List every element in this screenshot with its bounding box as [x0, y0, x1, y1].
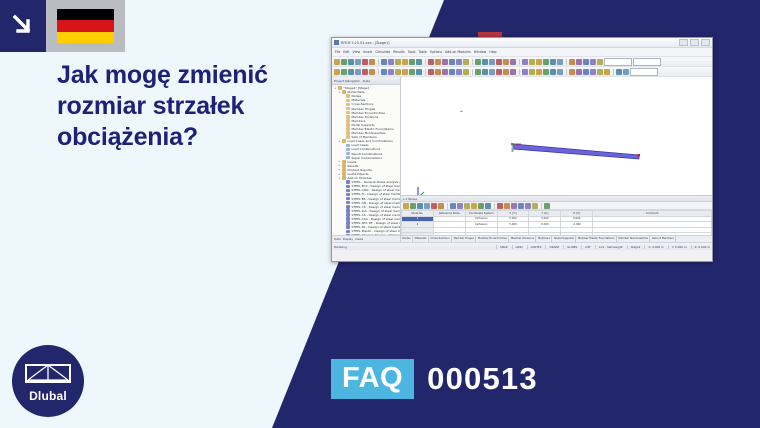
toolbar-icon-38[interactable] — [583, 69, 589, 75]
toolbar-icon-32[interactable] — [543, 59, 549, 65]
toolbar-icon-18[interactable] — [449, 69, 455, 75]
window-titlebar: RFEM 5.25.01.xxx - [Stage1] — [332, 38, 712, 48]
navigator-tab-views[interactable]: Views — [355, 237, 363, 241]
toolbar-icon-16[interactable] — [504, 203, 510, 209]
toolbar-icon-15[interactable] — [497, 203, 503, 209]
toolbar-icon-5[interactable] — [362, 59, 368, 65]
tree-node-icon — [346, 189, 350, 193]
tree-node-icon — [346, 180, 350, 184]
dlubal-wordmark: Dlubal — [12, 389, 84, 403]
toolbar-icon-30[interactable] — [529, 59, 535, 65]
toolbar-icon-18[interactable] — [449, 59, 455, 65]
toolbar-icon-26[interactable] — [503, 69, 509, 75]
toolbar-icon-31[interactable] — [536, 59, 542, 65]
status-segment: Z: 0.000 m — [691, 245, 710, 249]
toolbar-icon-20[interactable] — [463, 69, 469, 75]
toolbar-icon-4[interactable] — [355, 59, 361, 65]
toolbar-icon-43[interactable] — [616, 69, 622, 75]
toolbar-icon-10[interactable] — [464, 203, 470, 209]
toolbar-icon-13[interactable] — [416, 59, 422, 65]
status-segment: X: 0.000 m — [644, 245, 663, 249]
tree-expander-icon[interactable] — [342, 148, 345, 151]
navigator-tree[interactable]: +"Stage1" [Stage]+Model DataNodesMateria… — [332, 85, 400, 235]
toolbar-icon-19[interactable] — [456, 69, 462, 75]
toolbar-icon-34[interactable] — [557, 69, 563, 75]
tree-node-icon — [346, 99, 350, 103]
toolbar-icon-22[interactable] — [475, 69, 481, 75]
menu-item-add-on-modules[interactable]: Add-on Modules — [445, 50, 471, 54]
table-panel[interactable]: 1.1 Nodes Node No.Reference NodeCoordina… — [401, 196, 712, 242]
toolbar-separator — [566, 69, 567, 75]
tree-expander-icon[interactable] — [342, 119, 345, 122]
toolbar-icon-11[interactable] — [402, 69, 408, 75]
tree-node-icon — [346, 119, 350, 123]
maximize-button[interactable] — [690, 39, 699, 46]
sheet-tab-member-nonlinearities[interactable]: Member Nonlinearities — [617, 236, 650, 242]
tree-expander-icon[interactable]: + — [338, 140, 341, 143]
menu-item-insert[interactable]: Insert — [363, 50, 372, 54]
status-segment: DXF — [581, 245, 591, 249]
navigator-tab-display[interactable]: Display — [343, 237, 353, 241]
tree-expander-icon[interactable] — [342, 95, 345, 98]
menu-item-window[interactable]: Window — [474, 50, 487, 54]
toolbar-icon-11[interactable] — [402, 59, 408, 65]
coordinate-axes-icon — [415, 185, 431, 196]
toolbar-icon-31[interactable] — [536, 69, 542, 75]
toolbar-icon-40[interactable] — [597, 69, 603, 75]
tree-node-icon — [342, 160, 346, 164]
toolbar-separator — [378, 69, 379, 75]
sheet-tab-member-hinges[interactable]: Member Hinges — [452, 236, 476, 242]
tree-node-icon — [346, 197, 350, 201]
toolbar-icon-8[interactable] — [381, 69, 387, 75]
tree-node-icon — [346, 94, 350, 98]
toolbar-icon-30[interactable] — [529, 69, 535, 75]
sheet-tab-member-divisions[interactable]: Member Divisions — [509, 236, 536, 242]
tree-node-icon — [346, 111, 350, 115]
toolbar-row-2[interactable] — [332, 67, 712, 77]
tree-node-icon — [346, 185, 350, 189]
tree-expander-icon[interactable] — [342, 103, 345, 106]
toolbar-icon-17[interactable] — [442, 69, 448, 75]
toolbar-icon-2[interactable] — [341, 69, 347, 75]
tree-expander-icon[interactable] — [342, 218, 345, 221]
sheet-tab-nodes[interactable]: Nodes — [401, 236, 413, 242]
toolbar-icon-20[interactable] — [463, 59, 469, 65]
toolbar-icon-2[interactable] — [341, 59, 347, 65]
dlubal-bridge-icon — [25, 361, 71, 387]
toolbar-separator — [425, 59, 426, 65]
tree-node-icon — [342, 90, 346, 94]
menu-item-calculate[interactable]: Calculate — [375, 50, 390, 54]
tree-expander-icon[interactable] — [342, 152, 345, 155]
toolbar-icon-16[interactable] — [435, 59, 441, 65]
window-controls[interactable] — [679, 39, 710, 46]
status-left: Modeling — [334, 245, 347, 249]
toolbar-icon-23[interactable] — [482, 59, 488, 65]
toolbar-separator — [541, 203, 542, 209]
toolbar-icon-13[interactable] — [485, 203, 491, 209]
toolbar-separator — [472, 59, 473, 65]
status-segment: OSNAP — [545, 245, 559, 249]
toolbar-icon-37[interactable] — [576, 59, 582, 65]
faq-footer: FAQ 000513 — [331, 359, 538, 399]
toolbar-separator — [613, 69, 614, 75]
tree-node-icon — [346, 217, 350, 221]
toolbar-icon-29[interactable] — [522, 59, 528, 65]
tree-node-icon — [342, 168, 346, 172]
minimize-button[interactable] — [679, 39, 688, 46]
toolbar-icon-27[interactable] — [510, 59, 516, 65]
navigator-tabs[interactable]: DataDisplayViews — [332, 235, 400, 242]
tree-node-icon — [346, 127, 350, 131]
tree-node-icon — [342, 164, 346, 168]
menu-item-options[interactable]: Options — [430, 50, 442, 54]
toolbar-icon-19[interactable] — [456, 59, 462, 65]
toolbar-icon-9[interactable] — [457, 203, 463, 209]
status-segment: Stage1 — [627, 245, 641, 249]
toolbar-icon-12[interactable] — [478, 203, 484, 209]
status-segment: SNAP — [496, 245, 507, 249]
toolbar-separator — [519, 69, 520, 75]
tree-node-icon — [346, 193, 350, 197]
tree-node-icon — [346, 144, 350, 148]
faq-number: 000513 — [427, 362, 538, 396]
menu-item-results[interactable]: Results — [393, 50, 405, 54]
poster-stage: Jak mogę zmienić rozmiar strzałek obciąż… — [0, 0, 760, 428]
toolbar-icon-1[interactable] — [334, 69, 340, 75]
tree-expander-icon[interactable] — [342, 226, 345, 229]
tree-node-icon — [346, 152, 350, 156]
window-title: RFEM 5.25.01.xxx - [Stage1] — [341, 41, 679, 45]
toolbar-icon-22[interactable] — [475, 59, 481, 65]
german-flag-box — [46, 0, 125, 52]
mouse-cursor-icon: ⌖ — [460, 109, 463, 115]
toolbar-icon-18[interactable] — [518, 203, 524, 209]
toolbar-icon-9[interactable] — [388, 69, 394, 75]
language-corner-block — [0, 0, 125, 52]
table-body[interactable]: 1Cartesian0.0000.0000.0002Cartesian5.000… — [402, 216, 712, 235]
toolbar-icon-1[interactable] — [334, 59, 340, 65]
tree-node-icon — [346, 115, 350, 119]
tree-node-icon — [342, 176, 346, 180]
toolbar-icon-24[interactable] — [489, 69, 495, 75]
toolbar-icon-3[interactable] — [417, 203, 423, 209]
toolbar-icon-12[interactable] — [409, 59, 415, 65]
tree-node-icon — [346, 213, 350, 217]
toolbar-icon-19[interactable] — [525, 203, 531, 209]
status-segment: GLINES — [563, 245, 577, 249]
nodes-table[interactable]: Node No.Reference NodeCoordinate SystemX… — [401, 210, 712, 235]
toolbar-icon-36[interactable] — [569, 59, 575, 65]
toolbar-icon-20[interactable] — [532, 203, 538, 209]
tree-expander-icon[interactable] — [342, 127, 345, 130]
sheet-tab-materials[interactable]: Materials — [413, 236, 429, 242]
rfem-application-window[interactable]: RFEM 5.25.01.xxx - [Stage1] FileEditView… — [331, 37, 713, 262]
toolbar-icon-39[interactable] — [590, 59, 596, 65]
toolbar-icon-13[interactable] — [416, 69, 422, 75]
tree-expander-icon[interactable]: + — [338, 91, 341, 94]
status-right: SNAPGRIDCARTESOSNAPGLINESDXFLC1 : Self-w… — [496, 245, 710, 249]
toolbar-separator — [519, 59, 520, 65]
tree-expander-icon[interactable] — [342, 209, 345, 212]
status-bar: Modeling SNAPGRIDCARTESOSNAPGLINESDXFLC1… — [332, 242, 712, 250]
headline-line-2: rozmiar strzałek — [57, 91, 317, 122]
sheet-tab-cross-sections[interactable]: Cross-Sections — [429, 236, 452, 242]
sheet-tab-member-eccentricities[interactable]: Member Eccentricities — [476, 236, 509, 242]
toolbar-icon-34[interactable] — [557, 59, 563, 65]
tree-expander-icon[interactable] — [342, 185, 345, 188]
tree-node-icon — [346, 123, 350, 127]
toolbar-icon-3[interactable] — [348, 59, 354, 65]
tree-expander-icon[interactable] — [342, 132, 345, 135]
close-button[interactable] — [701, 39, 710, 46]
dlubal-logo: Dlubal — [12, 345, 84, 417]
tree-expander-icon[interactable] — [342, 181, 345, 184]
sheet-tab-nodal-supports[interactable]: Nodal Supports — [552, 236, 576, 242]
sheet-tab-member-elastic-foundations[interactable]: Member Elastic Foundations — [576, 236, 617, 242]
menu-item-table[interactable]: Table — [419, 50, 427, 54]
tree-expander-icon[interactable]: + — [338, 168, 341, 171]
tree-node-icon — [346, 107, 350, 111]
tree-node-icon — [346, 225, 350, 229]
toolbar-icon-25[interactable] — [496, 59, 502, 65]
toolbar-icon-6[interactable] — [369, 69, 375, 75]
tree-expander-icon[interactable] — [342, 189, 345, 192]
menu-item-edit[interactable]: Edit — [343, 50, 349, 54]
toolbar-icon-27[interactable] — [510, 69, 516, 75]
tree-node-icon — [346, 209, 350, 213]
faq-badge: FAQ — [331, 359, 414, 399]
data-grid[interactable]: Node No.Reference NodeCoordinate SystemX… — [401, 210, 712, 235]
status-segment: Y: 0.000 m — [668, 245, 687, 249]
tree-expander-icon[interactable] — [342, 144, 345, 147]
toolbar-icon-11[interactable] — [471, 203, 477, 209]
tree-expander-icon[interactable] — [342, 99, 345, 102]
toolbar-icon-6[interactable] — [369, 59, 375, 65]
toolbar-separator — [425, 69, 426, 75]
tree-expander-icon[interactable] — [342, 115, 345, 118]
tree-expander-icon[interactable] — [342, 156, 345, 159]
toolbar-icon-5[interactable] — [362, 69, 368, 75]
menu-item-help[interactable]: Help — [489, 50, 496, 54]
toolbar-icon-26[interactable] — [503, 59, 509, 65]
toolbar-icon-15[interactable] — [428, 59, 434, 65]
tree-expander-icon[interactable] — [342, 111, 345, 114]
toolbar-icon-33[interactable] — [550, 69, 556, 75]
toolbar-icon-16[interactable] — [435, 69, 441, 75]
toolbar-separator — [566, 59, 567, 65]
toolbar-icon-8[interactable] — [381, 59, 387, 65]
toolbar-icon-1[interactable] — [403, 203, 409, 209]
toolbar-combo-1[interactable] — [630, 68, 658, 76]
app-icon — [334, 40, 339, 45]
tree-expander-icon[interactable] — [342, 230, 345, 233]
tree-expander-icon[interactable] — [342, 222, 345, 225]
toolbar-icon-17[interactable] — [511, 203, 517, 209]
status-segment: CARTES — [527, 245, 542, 249]
sheet-tab-members[interactable]: Members — [536, 236, 552, 242]
toolbar-icon-15[interactable] — [428, 69, 434, 75]
toolbar-separator — [472, 69, 473, 75]
window-body: Project Navigator - Data +"Stage1" [Stag… — [332, 77, 712, 242]
tree-node-icon — [346, 103, 350, 107]
toolbar-icon-40[interactable] — [597, 59, 603, 65]
beam-member[interactable] — [511, 142, 641, 160]
toolbar-icon-25[interactable] — [496, 69, 502, 75]
toolbar-icon-41[interactable] — [604, 69, 610, 75]
menu-item-view[interactable]: View — [353, 50, 361, 54]
tree-node-icon — [342, 139, 346, 143]
toolbar-icon-2[interactable] — [410, 203, 416, 209]
model-canvas[interactable]: ⌖ — [401, 77, 712, 196]
toolbar-icon-23[interactable] — [482, 69, 488, 75]
table-toolbar[interactable] — [401, 202, 712, 210]
status-segment: LC1 : Self-weight — [595, 245, 623, 249]
toolbar-separator — [447, 203, 448, 209]
toolbar-icon-3[interactable] — [348, 69, 354, 75]
toolbar-icon-38[interactable] — [583, 59, 589, 65]
tree-expander-icon[interactable] — [342, 193, 345, 196]
toolbar-icon-22[interactable] — [544, 203, 550, 209]
toolbar-separator — [378, 59, 379, 65]
tree-expander-icon[interactable] — [342, 197, 345, 200]
menu-item-file[interactable]: File — [335, 50, 340, 54]
toolbar-row-1[interactable] — [332, 57, 712, 67]
headline-line-3: obciążenia? — [57, 122, 317, 153]
sheet-tabs[interactable]: NodesMaterialsCross-SectionsMember Hinge… — [401, 235, 712, 242]
toolbar-separator — [494, 203, 495, 209]
arrow-down-right-icon — [0, 0, 46, 52]
toolbar-icon-32[interactable] — [543, 69, 549, 75]
toolbar-icon-5[interactable] — [431, 203, 437, 209]
menu-item-tools[interactable]: Tools — [408, 50, 416, 54]
toolbar-icon-36[interactable] — [569, 69, 575, 75]
tree-node-icon — [346, 205, 350, 209]
tree-expander-icon[interactable] — [342, 201, 345, 204]
toolbar-icon-24[interactable] — [489, 59, 495, 65]
toolbar-icon-37[interactable] — [576, 69, 582, 75]
tree-expander-icon[interactable]: + — [338, 177, 341, 180]
toolbar-icon-6[interactable] — [438, 203, 444, 209]
status-segment: GRID — [512, 245, 523, 249]
toolbar-icon-29[interactable] — [522, 69, 528, 75]
navigator-header: Project Navigator - Data — [332, 77, 400, 85]
toolbar-icon-4[interactable] — [355, 69, 361, 75]
toolbar-combo-2[interactable] — [633, 58, 661, 66]
tree-node-icon — [346, 131, 350, 135]
tree-expander-icon[interactable] — [342, 123, 345, 126]
tree-expander-icon[interactable] — [342, 213, 345, 216]
page-title: Jak mogę zmienić rozmiar strzałek obciąż… — [57, 60, 317, 153]
tree-node-icon — [346, 230, 350, 234]
menu-bar[interactable]: FileEditViewInsertCalculateResultsToolsT… — [332, 48, 712, 57]
tree-expander-icon[interactable] — [342, 107, 345, 110]
navigator-tab-data[interactable]: Data — [334, 237, 341, 241]
project-navigator[interactable]: Project Navigator - Data +"Stage1" [Stag… — [332, 77, 401, 242]
tree-expander-icon[interactable] — [342, 205, 345, 208]
tree-node-icon — [346, 221, 350, 225]
toolbar-icon-39[interactable] — [590, 69, 596, 75]
toolbar-combo-1[interactable] — [604, 58, 632, 66]
toolbar-icon-4[interactable] — [424, 203, 430, 209]
toolbar-icon-12[interactable] — [409, 69, 415, 75]
tree-expander-icon[interactable]: + — [334, 87, 337, 90]
toolbar-icon-44[interactable] — [623, 69, 629, 75]
toolbar-icon-33[interactable] — [550, 59, 556, 65]
headline-line-1: Jak mogę zmienić — [57, 60, 317, 91]
toolbar-icon-10[interactable] — [395, 69, 401, 75]
tree-node-icon — [346, 148, 350, 152]
tree-expander-icon[interactable] — [342, 136, 345, 139]
toolbar-icon-10[interactable] — [395, 59, 401, 65]
german-flag — [57, 9, 114, 43]
sheet-tab-sets-of-members[interactable]: Sets of Members — [650, 236, 676, 242]
toolbar-icon-9[interactable] — [388, 59, 394, 65]
model-viewport[interactable]: ⌖ 1.1 Nodes — [401, 77, 712, 242]
toolbar-icon-17[interactable] — [442, 59, 448, 65]
tree-node-icon — [342, 172, 346, 176]
toolbar-icon-8[interactable] — [450, 203, 456, 209]
